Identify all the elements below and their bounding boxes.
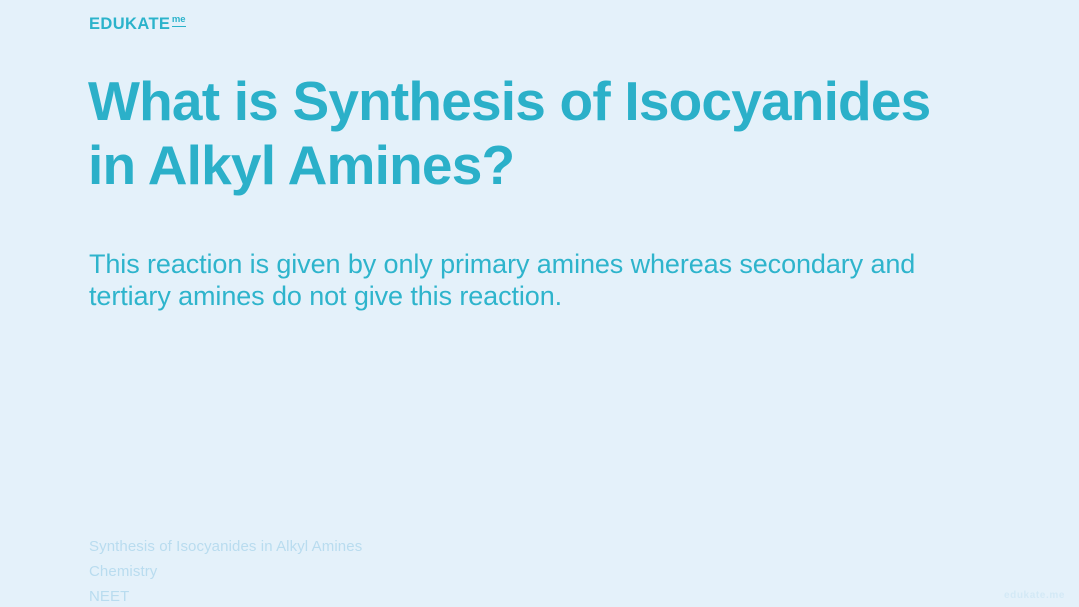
body-paragraph-line-2: tertiary amines do not give this reactio… [89, 280, 989, 312]
footer-meta: Synthesis of Isocyanides in Alkyl Amines… [89, 534, 362, 607]
slide-canvas: EDUKATE me What is Synthesis of Isocyani… [0, 0, 1079, 607]
watermark: edukate.me [1004, 590, 1065, 601]
body-paragraph: This reaction is given by only primary a… [89, 248, 989, 313]
page-title-line-1: What is Synthesis of Isocyanides [88, 70, 1028, 134]
body-paragraph-line-1: This reaction is given by only primary a… [89, 248, 989, 280]
footer-subject: Chemistry [89, 559, 362, 584]
brand-name: EDUKATE [89, 16, 170, 33]
footer-exam: NEET [89, 584, 362, 607]
brand-logo[interactable]: EDUKATE me [89, 16, 186, 33]
brand-suffix: me [172, 15, 186, 27]
footer-topic: Synthesis of Isocyanides in Alkyl Amines [89, 534, 362, 559]
page-title: What is Synthesis of Isocyanides in Alky… [88, 70, 1028, 198]
page-title-line-2: in Alkyl Amines? [88, 134, 1028, 198]
